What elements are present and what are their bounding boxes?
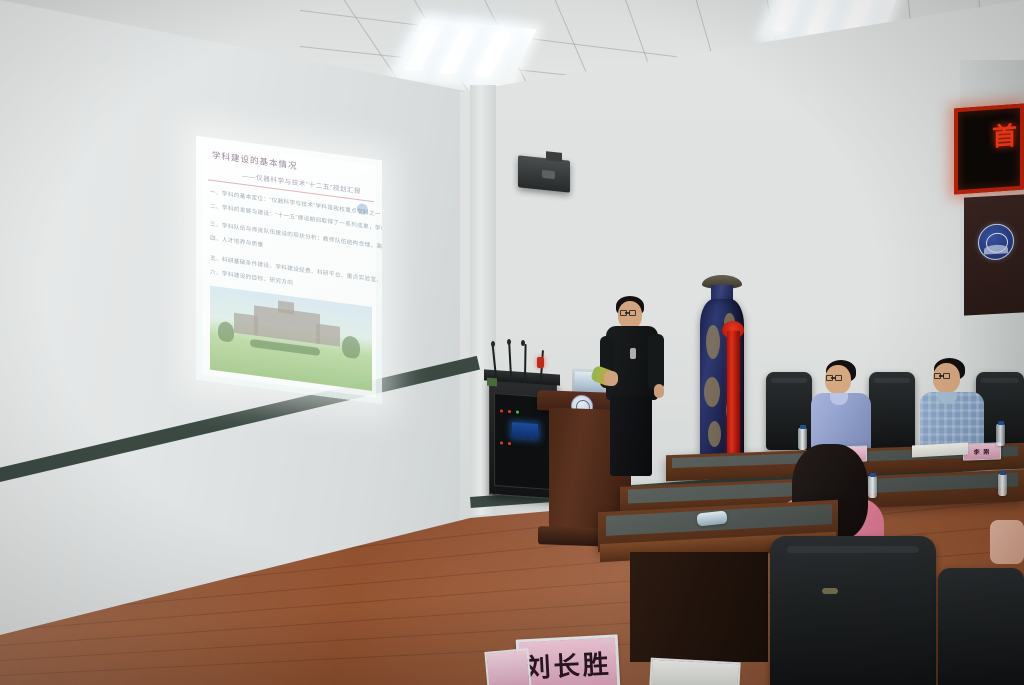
slide-content: 学科建设的基本情况 ——仪器科学与技术“十二五”规划汇报 一、学科的基本定位：“… (202, 143, 376, 398)
attendee-left-glasses-bridge (831, 377, 836, 379)
water-bottle[interactable] (996, 424, 1005, 446)
slide-photo-tree (218, 321, 234, 343)
chair-highlight (787, 546, 920, 553)
speaker-glasses-lens (629, 310, 636, 316)
vase-gold-motif (706, 325, 720, 359)
microphone-head (507, 339, 511, 345)
microphone-base-red (537, 357, 544, 368)
av-led-indicator (508, 410, 511, 413)
speaker-right-hand (654, 384, 664, 398)
av-rack-display (512, 422, 538, 439)
chair-brand-badge (822, 588, 838, 594)
foreground-chair-center[interactable] (770, 536, 936, 685)
chair-highlight (771, 378, 808, 383)
slide-photo-building-wing (316, 324, 340, 347)
fluorescent-tube (440, 29, 477, 74)
speaker-right-arm (648, 334, 664, 390)
slide-photo-tower (278, 301, 294, 315)
decorative-floor-vase (694, 271, 750, 463)
nameplate-right-seat: 李 刚 (963, 442, 1001, 460)
av-green-device (487, 378, 497, 387)
attendee-right-glasses-lens (943, 373, 950, 379)
attendee-right-glasses-bridge (939, 375, 944, 377)
slide-photo (210, 286, 372, 391)
nameplate-foreground-secondary (649, 658, 740, 685)
fluorescent-tube (772, 0, 802, 31)
av-led-indicator (516, 411, 519, 414)
fluorescent-tube (807, 0, 837, 34)
slide-photo-tree (342, 335, 360, 359)
wall-plaque-board (964, 194, 1024, 315)
led-scrolling-sign: 首 (954, 104, 1024, 195)
slide-bullet: 四、人才培养与质量 (210, 234, 264, 249)
vase-gold-motif (708, 421, 721, 447)
bottle-cap (1000, 471, 1006, 475)
nameplate-foreground-tertiary (484, 648, 531, 685)
bottle-cap (800, 425, 806, 429)
speaker-glasses-bridge (625, 312, 630, 314)
fluorescent-tube (474, 32, 511, 77)
speaker-presenter (600, 296, 680, 476)
led-sign-text: 首 (992, 116, 1017, 154)
av-led-indicator (500, 441, 503, 444)
speaker-shirt-logo (630, 348, 636, 359)
emblem-wave-shape (984, 244, 1008, 254)
speaker-legs (610, 396, 652, 476)
front-table-pedestal (630, 552, 768, 662)
ceiling-projector (518, 155, 570, 192)
av-led-indicator (500, 409, 503, 412)
vase-red-ribbon (727, 331, 740, 459)
speaker-hand (604, 371, 618, 386)
bottle-cap (998, 421, 1004, 425)
microphone-head (521, 340, 525, 346)
conference-room-scene: 学科建设的基本情况 ——仪器科学与技术“十二五”规划汇报 一、学科的基本定位：“… (0, 0, 1024, 685)
av-led-indicator (508, 442, 511, 445)
microphone-head (491, 341, 495, 347)
projector-lens (542, 170, 555, 179)
slide-photo-building-wing (234, 313, 258, 336)
water-bottle[interactable] (998, 474, 1007, 496)
projector-mount (546, 151, 562, 162)
institution-emblem-icon (978, 223, 1014, 261)
attendee-left-glasses-lens (835, 375, 842, 381)
vase-gold-motif (704, 377, 720, 407)
projection-screen: 学科建设的基本情况 ——仪器科学与技术“十二五”规划汇报 一、学科的基本定位：“… (196, 136, 382, 404)
attendee-far-right-arm (990, 520, 1024, 564)
attendee-far-right-partial (990, 520, 1024, 590)
nameplate-foreground: 刘长胜 (516, 634, 621, 685)
